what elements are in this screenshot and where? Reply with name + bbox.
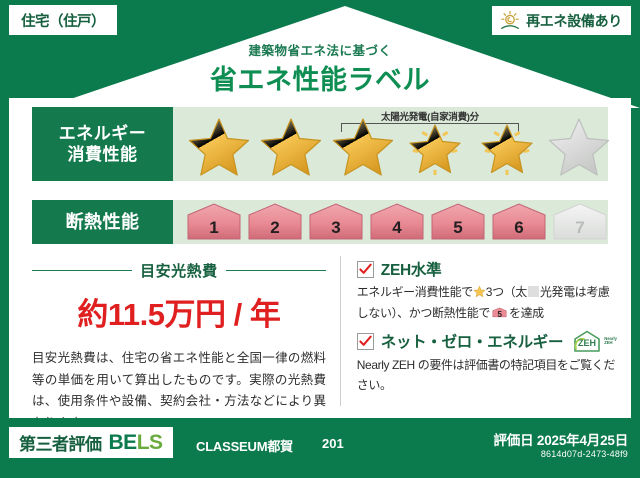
insulation-level-2: 2 xyxy=(246,202,304,242)
renewable-energy-badge: 再エネ設備あり xyxy=(492,6,631,35)
net-zero-energy-item: ネット・ゼロ・エネルギー ZEH Nearly ZEH xyxy=(357,329,617,394)
zeh-standard-checkbox[interactable] xyxy=(357,261,374,278)
net-zero-energy-checkbox[interactable] xyxy=(357,333,374,350)
third-party-eval-label: 第三者評価 xyxy=(19,430,102,455)
utility-cost-heading: 目安光熱費 xyxy=(32,260,326,281)
zeh-body-part2: 3つ（太 xyxy=(486,285,527,299)
insulation-level-1: 1 xyxy=(185,202,243,242)
category-tag: 住宅（住戸） xyxy=(9,5,117,35)
zeh-standard-head: ZEH水準 xyxy=(357,258,617,280)
heading-rule-right xyxy=(226,270,326,272)
net-zero-energy-title: ネット・ゼロ・エネルギー xyxy=(381,330,563,352)
inline-star-icon xyxy=(473,285,486,304)
star-6-empty xyxy=(545,115,613,179)
unit-number: 201 xyxy=(322,436,344,451)
bels-logo-part1: BE xyxy=(109,431,137,454)
zeh-body-part4: を達成 xyxy=(509,306,544,320)
zeh-logo-sub-line2: ZEH xyxy=(604,340,612,345)
svg-text:ZEH: ZEH xyxy=(578,338,596,348)
star-1-filled xyxy=(185,115,253,179)
zeh-logo-subtext: Nearly ZEH xyxy=(604,337,617,346)
star-4-filled-solar xyxy=(401,115,469,179)
heading-rule-left xyxy=(32,270,132,272)
insulation-level-2-value: 2 xyxy=(246,218,304,238)
renewable-badge-label: 再エネ設備あり xyxy=(526,11,622,31)
utility-cost-amount: 約11.5万円 / 年 xyxy=(32,289,326,334)
zeh-panel: ZEH水準 エネルギー消費性能で3つ（太光発電は考慮しない）、かつ断熱性能で5を… xyxy=(341,250,631,418)
net-zero-energy-head: ネット・ゼロ・エネルギー ZEH Nearly ZEH xyxy=(357,329,617,353)
insulation-level-scale: 1 2 3 4 5 xyxy=(185,202,609,242)
sun-solar-icon xyxy=(499,10,521,32)
energy-rating-label: エネルギー 消費性能 xyxy=(32,107,173,181)
insulation-rating-label: 断熱性能 xyxy=(32,200,173,244)
insulation-level-6-value: 6 xyxy=(490,218,548,238)
zeh-body-part1: エネルギー消費性能で xyxy=(357,285,473,299)
insulation-level-5-value: 5 xyxy=(429,218,487,238)
insulation-level-6: 6 xyxy=(490,202,548,242)
utility-cost-title: 目安光熱費 xyxy=(140,260,218,281)
label-subtitle: 建築物省エネ法に基づく xyxy=(0,40,640,59)
insulation-level-1-value: 1 xyxy=(185,218,243,238)
zeh-standard-body: エネルギー消費性能で3つ（太光発電は考慮しない）、かつ断熱性能で5を達成 xyxy=(357,283,617,323)
label-title: 省エネ性能ラベル xyxy=(0,58,640,97)
zeh-house-logo-icon: ZEH Nearly ZEH xyxy=(572,329,617,353)
evaluation-date: 評価日 2025年4月25日 xyxy=(493,429,628,449)
insulation-level-3-value: 3 xyxy=(307,218,365,238)
energy-rating-row: エネルギー 消費性能 太陽光発電(自家消費)分 xyxy=(32,107,608,181)
energy-performance-label: 住宅（住戸） 再エネ設備あり 建築物省エネ法に基づく 省エネ性能ラベル xyxy=(0,0,640,478)
insulation-level-7: 7 xyxy=(551,202,609,242)
star-5-filled-solar xyxy=(473,115,541,179)
inline-level-5-value: 5 xyxy=(492,309,507,322)
bels-certification-tag: 第三者評価 BELS xyxy=(9,427,173,458)
insulation-level-5: 5 xyxy=(429,202,487,242)
insulation-rating-value: 1 2 3 4 5 xyxy=(173,200,608,244)
redacted-char xyxy=(528,286,539,297)
zeh-standard-item: ZEH水準 エネルギー消費性能で3つ（太光発電は考慮しない）、かつ断熱性能で5を… xyxy=(357,258,617,323)
energy-label-line2: 消費性能 xyxy=(68,144,138,165)
insulation-level-4-value: 4 xyxy=(368,218,426,238)
net-zero-energy-body: Nearly ZEH の要件は評価書の特記項目をご覧ください。 xyxy=(357,356,617,394)
zeh-standard-title: ZEH水準 xyxy=(381,258,442,280)
utility-cost-panel: 目安光熱費 約11.5万円 / 年 目安光熱費は、住宅の省エネ性能と全国一律の燃… xyxy=(9,250,340,418)
insulation-level-3: 3 xyxy=(307,202,365,242)
bels-logo-part2: LS xyxy=(137,431,163,454)
energy-label-line1: エネルギー xyxy=(59,123,147,144)
inline-level-5-badge: 5 xyxy=(492,306,507,319)
star-3-filled xyxy=(329,115,397,179)
energy-rating-value: 太陽光発電(自家消費)分 xyxy=(173,107,608,181)
insulation-level-4: 4 xyxy=(368,202,426,242)
lower-section: 目安光熱費 約11.5万円 / 年 目安光熱費は、住宅の省エネ性能と全国一律の燃… xyxy=(9,250,631,418)
energy-star-rating xyxy=(185,115,613,179)
bels-logo: BELS xyxy=(109,431,163,455)
property-name: CLASSEUM都賀 xyxy=(196,436,293,455)
evaluation-id: 8614d07d-2473-48f9 xyxy=(541,449,628,459)
insulation-level-7-value: 7 xyxy=(551,218,609,238)
label-body: エネルギー 消費性能 太陽光発電(自家消費)分 xyxy=(9,98,631,418)
star-2-filled xyxy=(257,115,325,179)
label-footer: 第三者評価 BELS CLASSEUM都賀 201 評価日 2025年4月25日… xyxy=(0,418,640,478)
insulation-rating-row: 断熱性能 xyxy=(32,200,608,244)
